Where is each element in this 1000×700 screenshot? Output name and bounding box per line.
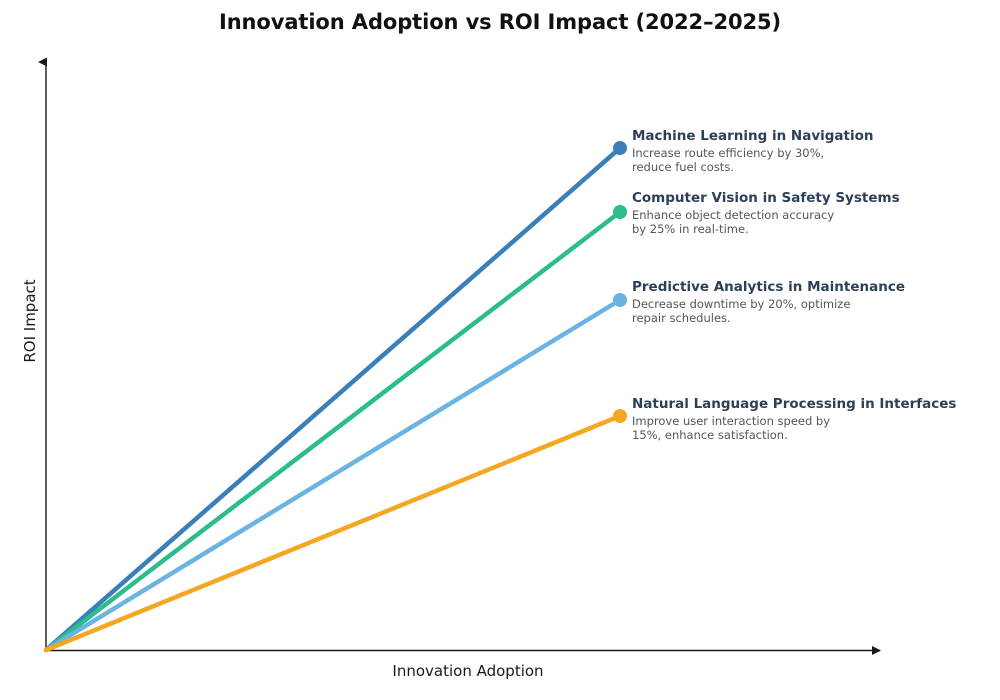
series-endpoint-marker-2 [613,293,627,307]
series-line-3 [46,416,620,650]
series-annotation-title-2: Predictive Analytics in Maintenance [632,279,992,296]
x-axis-label: Innovation Adoption [298,662,638,680]
series-annotation-desc-1: Enhance object detection accuracy by 25%… [632,208,992,236]
series-marker-group [613,141,627,423]
series-line-group [46,148,620,650]
series-annotation-title-1: Computer Vision in Safety Systems [632,190,992,207]
chart-container: Innovation Adoption vs ROI Impact (2022–… [0,0,1000,700]
y-axis-label: ROI Impact [21,261,39,381]
series-line-0 [46,148,620,650]
series-endpoint-marker-3 [613,409,627,423]
series-line-1 [46,212,620,650]
series-annotation-title-3: Natural Language Processing in Interface… [632,396,992,413]
series-annotation-0: Machine Learning in Navigation Increase … [632,128,992,174]
series-annotation-3: Natural Language Processing in Interface… [632,396,992,442]
series-annotation-desc-0: Increase route efficiency by 30%, reduce… [632,146,992,174]
series-annotation-2: Predictive Analytics in Maintenance Decr… [632,279,992,325]
chart-series-layer [0,0,1000,700]
series-annotation-title-0: Machine Learning in Navigation [632,128,992,145]
series-endpoint-marker-1 [613,205,627,219]
series-annotation-desc-3: Improve user interaction speed by 15%, e… [632,414,992,442]
series-endpoint-marker-0 [613,141,627,155]
series-annotation-1: Computer Vision in Safety Systems Enhanc… [632,190,992,236]
series-line-2 [46,300,620,650]
series-annotation-desc-2: Decrease downtime by 20%, optimize repai… [632,297,992,325]
